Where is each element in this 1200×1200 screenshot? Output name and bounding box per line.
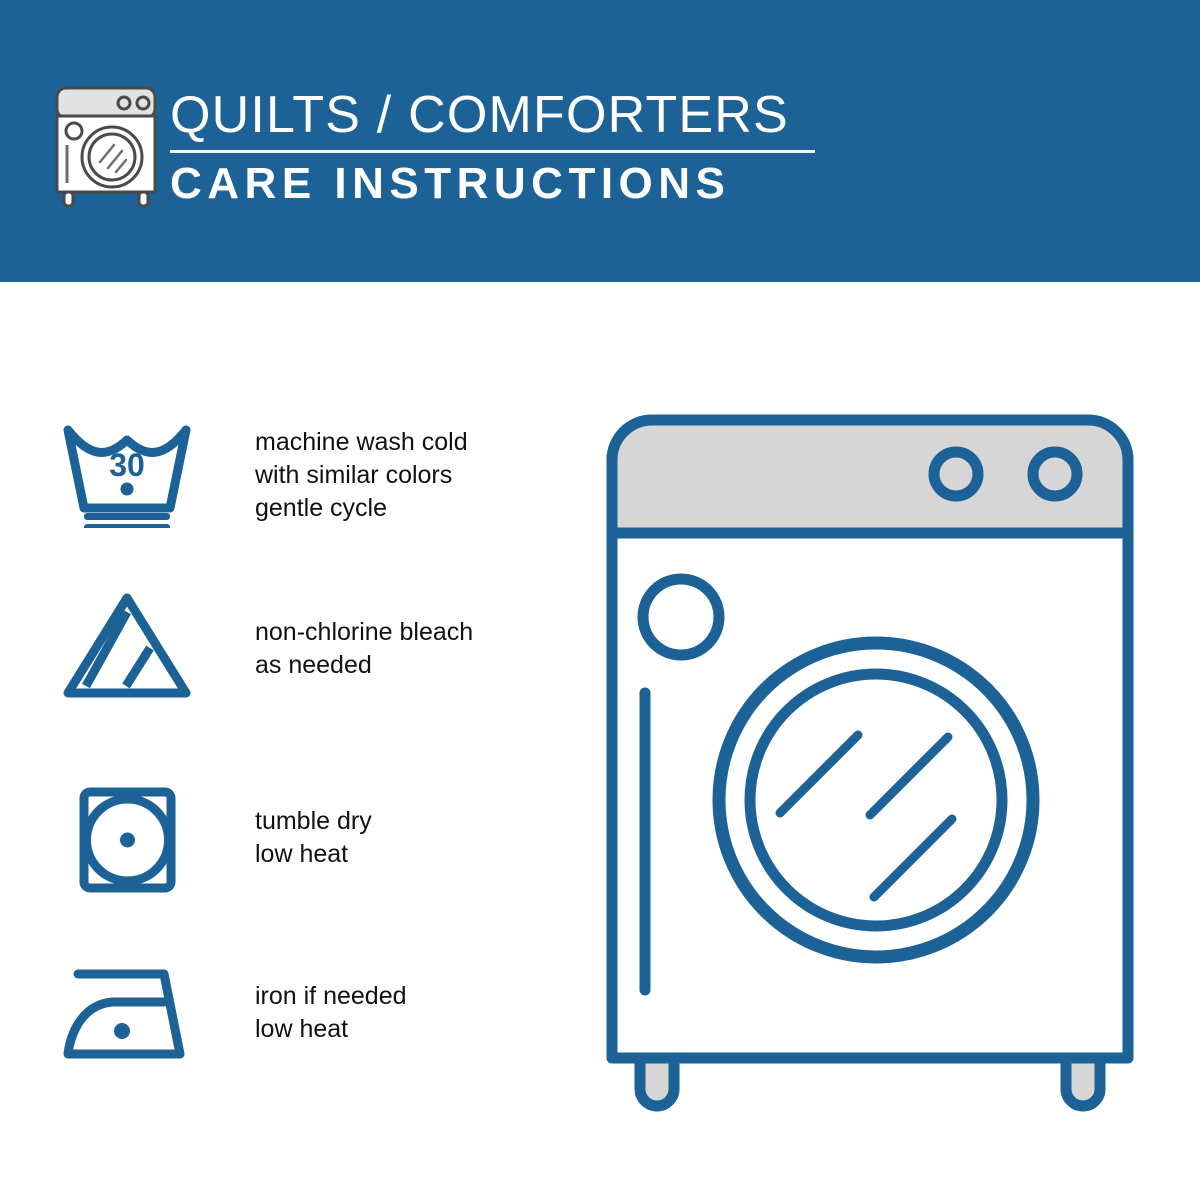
dry-heat-dot-icon <box>120 833 135 848</box>
washer-foot-left <box>640 1058 674 1106</box>
gentle-bar-1 <box>84 513 170 520</box>
bleach-triangle-icon <box>60 590 195 700</box>
header-title-block: QUILTS / COMFORTERS CARE INSTRUCTIONS <box>170 86 820 209</box>
wash-tub-icon: 30 <box>60 418 195 528</box>
washer-foot-right <box>1066 1058 1100 1106</box>
wash-dot-icon <box>121 483 134 496</box>
page-subtitle: CARE INSTRUCTIONS <box>170 159 820 209</box>
care-item-label: iron if needed low heat <box>255 958 407 1046</box>
washing-machine-illustration <box>600 405 1160 1125</box>
tumble-dry-icon <box>60 785 195 895</box>
page-title: QUILTS / COMFORTERS <box>170 86 820 144</box>
care-item-tumble-dry: tumble dry low heat <box>60 785 530 895</box>
iron-icon <box>60 958 195 1068</box>
wash-temperature-label: 30 <box>109 447 145 483</box>
washing-machine-icon <box>52 82 160 210</box>
care-item-label: machine wash cold with similar colors ge… <box>255 418 468 525</box>
gentle-bar-2 <box>84 524 170 528</box>
care-item-label: non-chlorine bleach as needed <box>255 590 473 682</box>
care-item-label: tumble dry low heat <box>255 785 372 871</box>
bleach-stripe-2 <box>126 648 150 686</box>
title-divider <box>170 150 815 153</box>
care-item-machine-wash: 30 machine wash cold with similar colors… <box>60 418 530 528</box>
header-banner: QUILTS / COMFORTERS CARE INSTRUCTIONS <box>0 0 1200 282</box>
care-item-bleach: non-chlorine bleach as needed <box>60 590 530 700</box>
washer-control-panel <box>617 425 1123 533</box>
iron-heat-dot-icon <box>114 1023 130 1039</box>
care-item-iron: iron if needed low heat <box>60 958 530 1068</box>
